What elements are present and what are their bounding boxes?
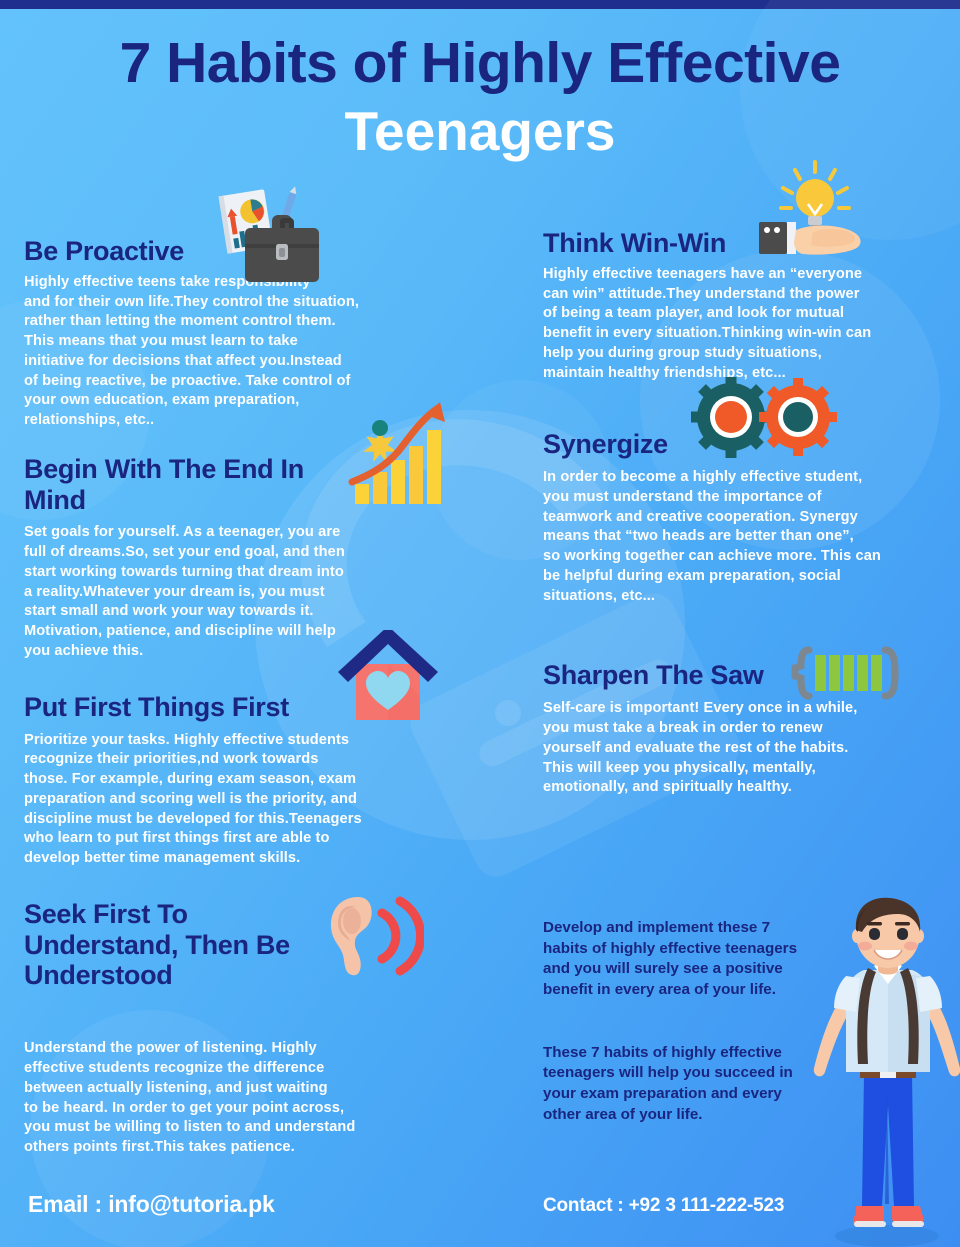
- habit-header: Think Win-Win: [543, 228, 943, 259]
- habit-header: Seek First To Understand, Then Be Unders…: [24, 899, 434, 991]
- decor-dot: [495, 700, 521, 726]
- habit-body: Highly effective teenagers have an “ever…: [543, 265, 943, 384]
- habit-title: Begin With The End In Mind: [24, 454, 354, 516]
- habit-sharpen-the-saw: Sharpen The Saw Self-care is important! …: [543, 660, 943, 798]
- poster-footer: Email : info@tutoria.pk Contact : +92 3 …: [0, 1173, 960, 1247]
- battery-full-icon: [789, 646, 905, 704]
- habit-synergize: Synergize: [543, 429, 943, 606]
- habit-header: Put First Things First: [24, 692, 434, 723]
- habit-header: Synergize: [543, 429, 943, 460]
- footer-email[interactable]: Email : info@tutoria.pk: [28, 1191, 275, 1218]
- habit-body: Self-care is important! Every once in a …: [543, 699, 943, 798]
- habit-title: Be Proactive: [24, 236, 184, 267]
- left-column: Be Proactive: [24, 236, 434, 1175]
- right-column: Think Win-Win: [543, 228, 943, 815]
- habit-title: Sharpen The Saw: [543, 660, 764, 691]
- habit-seek-first-to-understand: Seek First To Understand, Then Be Unders…: [24, 899, 434, 1158]
- hand-lightbulb-icon: [753, 160, 875, 266]
- closing-paragraph-1: Develop and implement these 7 habits of …: [543, 918, 853, 1001]
- closing-paragraph-2: These 7 habits of highly effective teena…: [543, 1043, 853, 1126]
- top-accent-strip: [0, 0, 960, 9]
- habit-title: Synergize: [543, 429, 668, 460]
- footer-contact[interactable]: Contact : +92 3 111-222-523: [543, 1195, 784, 1217]
- page-title-line1: 7 Habits of Highly Effective: [0, 34, 960, 94]
- infographic-poster: 7 Habits of Highly Effective Teenagers B…: [0, 0, 960, 1247]
- habit-body: Understand the power of listening. Highl…: [24, 1039, 434, 1158]
- habit-body: In order to become a highly effective st…: [543, 468, 943, 606]
- habit-title: Seek First To Understand, Then Be Unders…: [24, 899, 334, 991]
- habit-header: Be Proactive: [24, 236, 434, 267]
- house-heart-icon: [334, 630, 446, 722]
- ear-listening-icon: [324, 893, 424, 979]
- page-title-line2: Teenagers: [0, 100, 960, 163]
- briefcase-charts-icon: [202, 186, 322, 286]
- growth-chart-icon: [342, 400, 462, 510]
- poster-header: 7 Habits of Highly Effective Teenagers: [0, 34, 960, 163]
- closing-statements: Develop and implement these 7 habits of …: [543, 918, 853, 1125]
- habit-body: Prioritize your tasks. Highly effective …: [24, 731, 434, 869]
- habit-header: Begin With The End In Mind: [24, 454, 434, 516]
- habit-put-first-things-first: Put First Things First Prioritize your t…: [24, 692, 434, 869]
- habit-header: Sharpen The Saw: [543, 660, 943, 691]
- gears-icon: [691, 377, 841, 459]
- habit-title: Put First Things First: [24, 692, 289, 723]
- habit-think-win-win: Think Win-Win: [543, 228, 943, 383]
- habit-title: Think Win-Win: [543, 228, 726, 259]
